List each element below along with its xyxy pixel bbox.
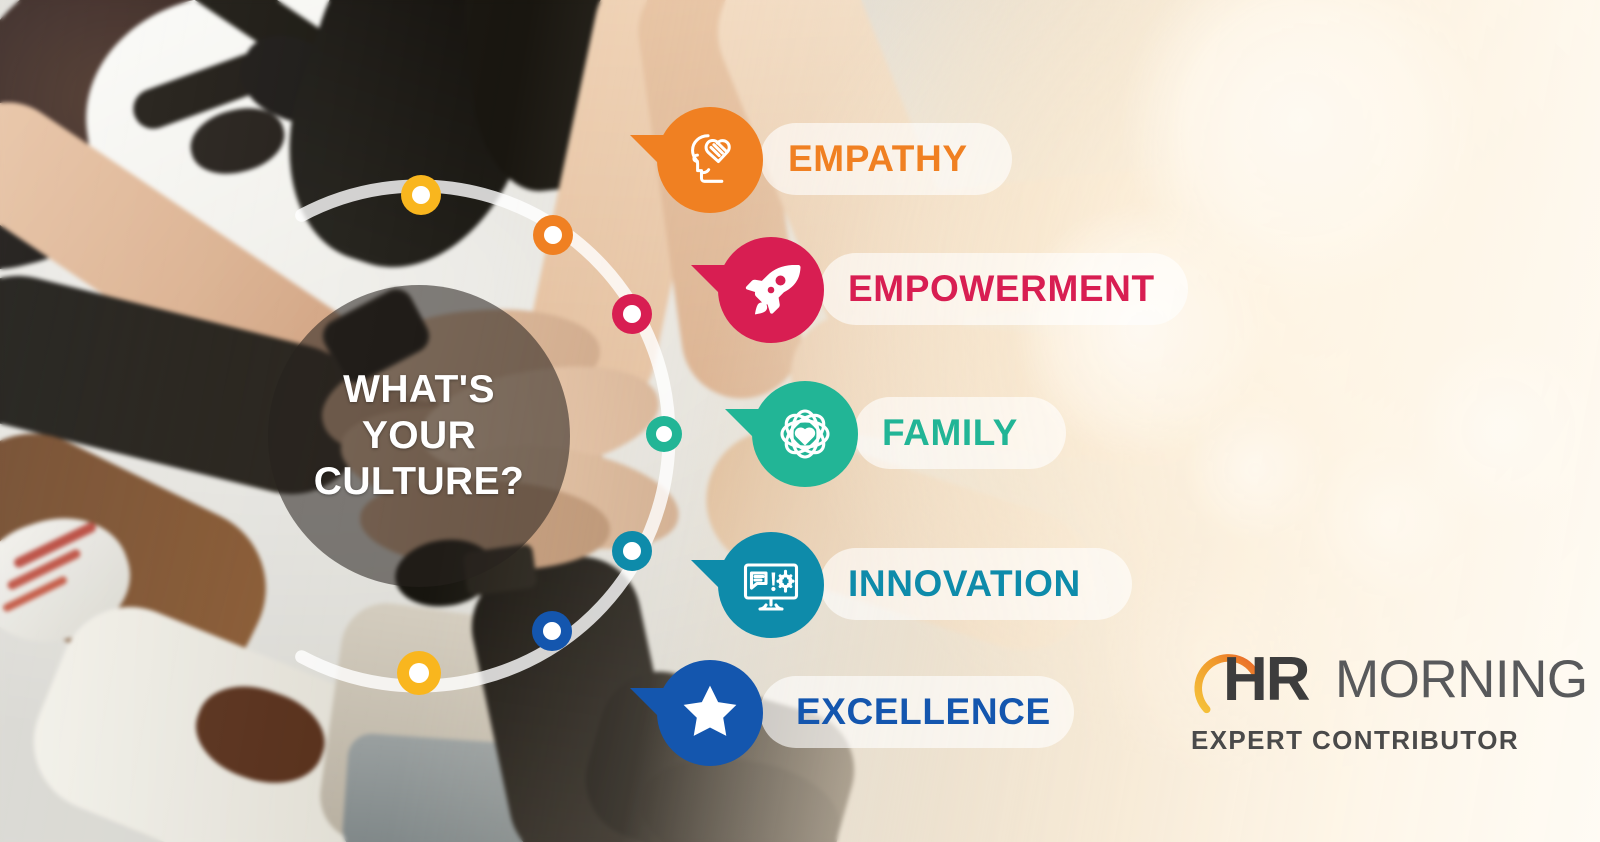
value-pill-family[interactable]: FAMILY <box>854 397 1066 469</box>
value-label-excellence: EXCELLENCE <box>796 691 1051 733</box>
star-icon <box>677 680 743 746</box>
value-label-family: FAMILY <box>882 412 1018 454</box>
head-heart-icon <box>679 129 741 191</box>
logo-morning-text: MORNING <box>1335 653 1588 706</box>
value-bubble-empathy[interactable] <box>657 107 763 213</box>
logo-subtitle: EXPERT CONTRIBUTOR <box>1185 725 1525 756</box>
value-bubble-innovation[interactable] <box>718 532 824 638</box>
value-pill-empathy[interactable]: EMPATHY <box>760 123 1012 195</box>
infographic-canvas: WHAT'S YOUR CULTURE? EMPATHY EMPOWERMENT… <box>0 0 1600 842</box>
value-bubble-empowerment[interactable] <box>718 237 824 343</box>
value-bubble-family[interactable] <box>752 381 858 487</box>
value-label-empathy: EMPATHY <box>788 138 968 180</box>
logo-wordmark: HR MORNING <box>1185 645 1525 719</box>
monitor-gear-icon <box>739 553 803 617</box>
value-bubble-excellence[interactable] <box>657 660 763 766</box>
value-pill-innovation[interactable]: INNOVATION <box>820 548 1132 620</box>
value-pill-excellence[interactable]: EXCELLENCE <box>760 676 1074 748</box>
rocket-icon <box>739 258 803 322</box>
value-label-empowerment: EMPOWERMENT <box>848 268 1155 310</box>
value-pill-empowerment[interactable]: EMPOWERMENT <box>820 253 1188 325</box>
value-label-innovation: INNOVATION <box>848 563 1081 605</box>
logo-hr-text: HR <box>1223 649 1309 711</box>
hrmorning-logo[interactable]: HR MORNING EXPERT CONTRIBUTOR <box>1185 645 1525 756</box>
atom-heart-icon <box>773 402 837 466</box>
